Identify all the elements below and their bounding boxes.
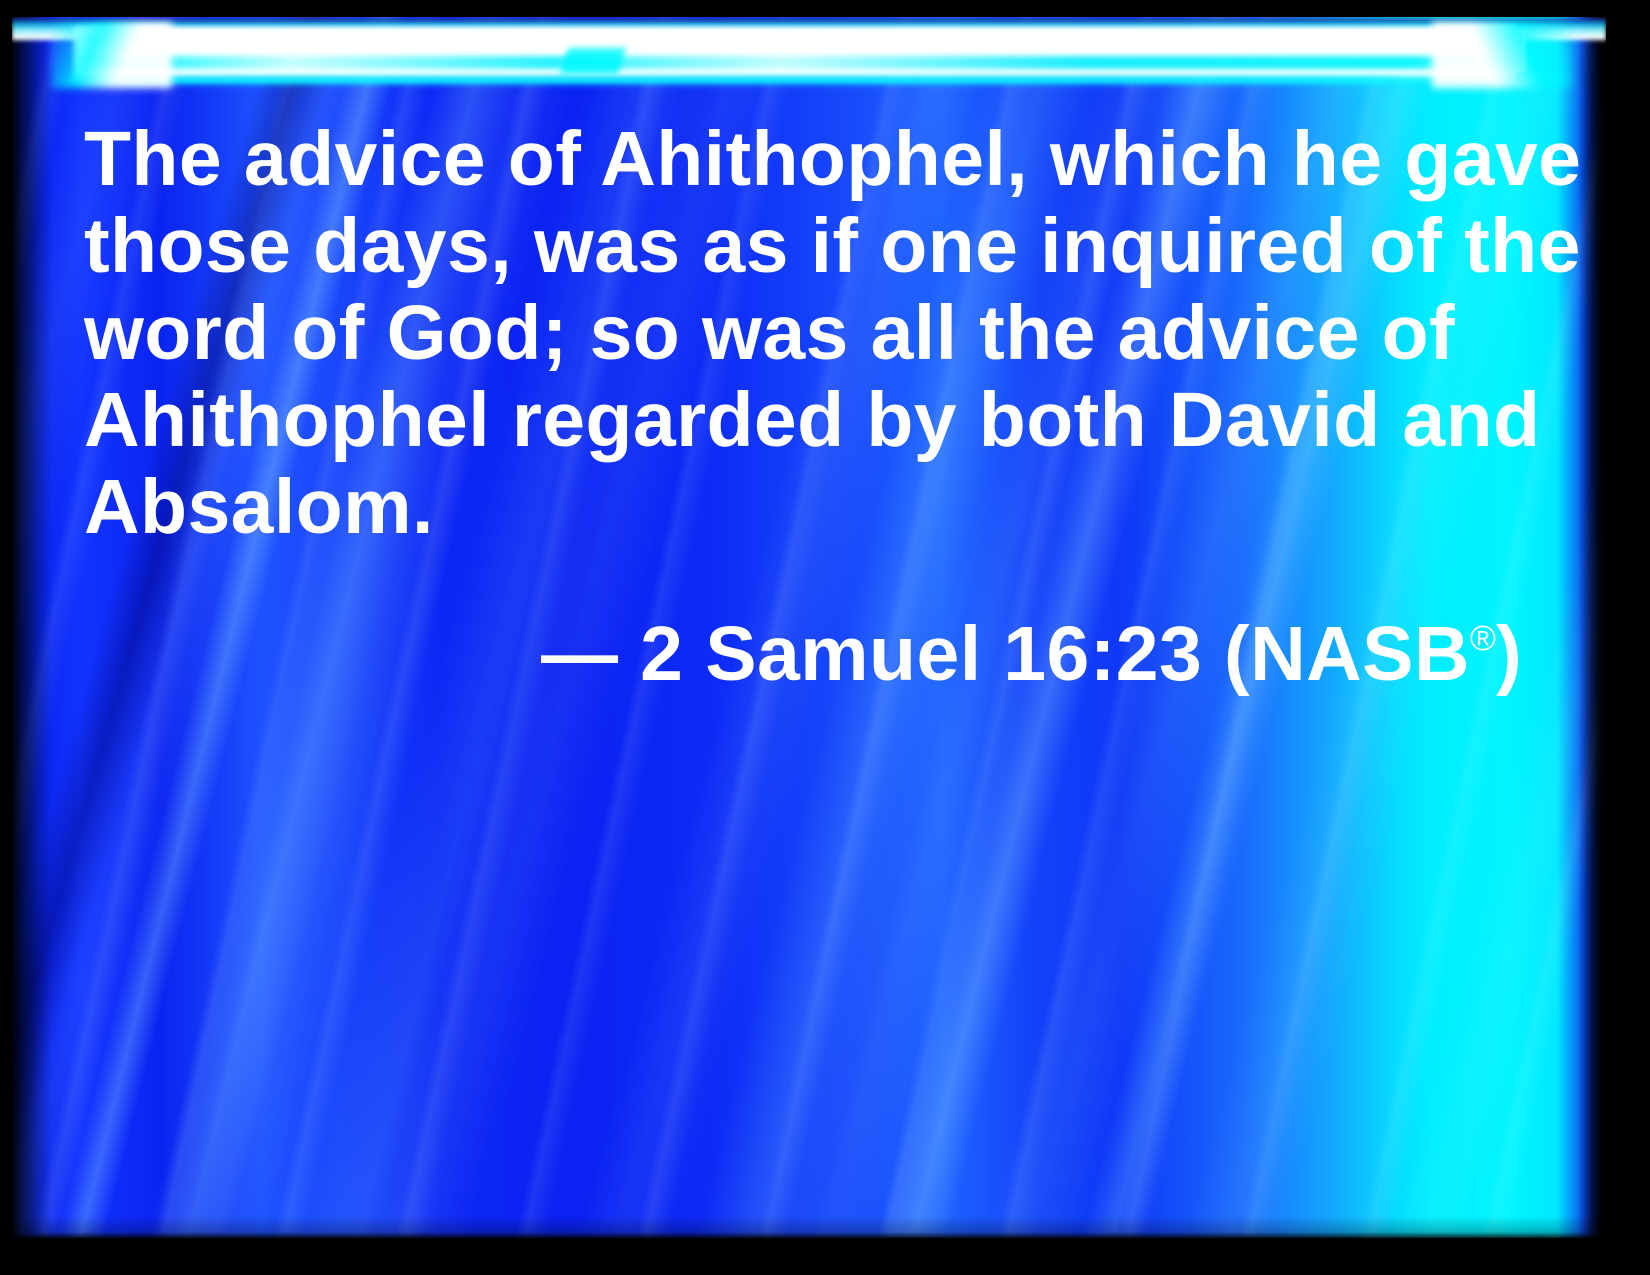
slide-background-canvas: The advice of Ahithophel, which he gave … (12, 8, 1606, 1238)
verse-line-1: The advice of Ahithophel, which he gave … (84, 116, 1524, 203)
verse-line-2: those days, was as if one inquired of th… (84, 203, 1524, 290)
verse-line-3: word of God; so was all the advice of (84, 290, 1524, 377)
verse-line-5: Absalom. (84, 464, 1524, 551)
slide-frame: The advice of Ahithophel, which he gave … (0, 0, 1650, 1275)
registered-trademark-icon: ® (1470, 618, 1496, 658)
citation-reference: 16:23 (1003, 611, 1202, 697)
citation-translation-close: ) (1496, 611, 1522, 697)
verse-line-4: Ahithophel regarded by both David and (84, 377, 1524, 464)
citation-translation-open: (NASB (1224, 611, 1470, 697)
verse-citation: — 2 Samuel 16:23 (NASB®) (84, 595, 1524, 698)
verse-text-block: The advice of Ahithophel, which he gave … (84, 116, 1524, 698)
citation-book: 2 Samuel (640, 611, 981, 697)
citation-dash: — (541, 611, 618, 697)
